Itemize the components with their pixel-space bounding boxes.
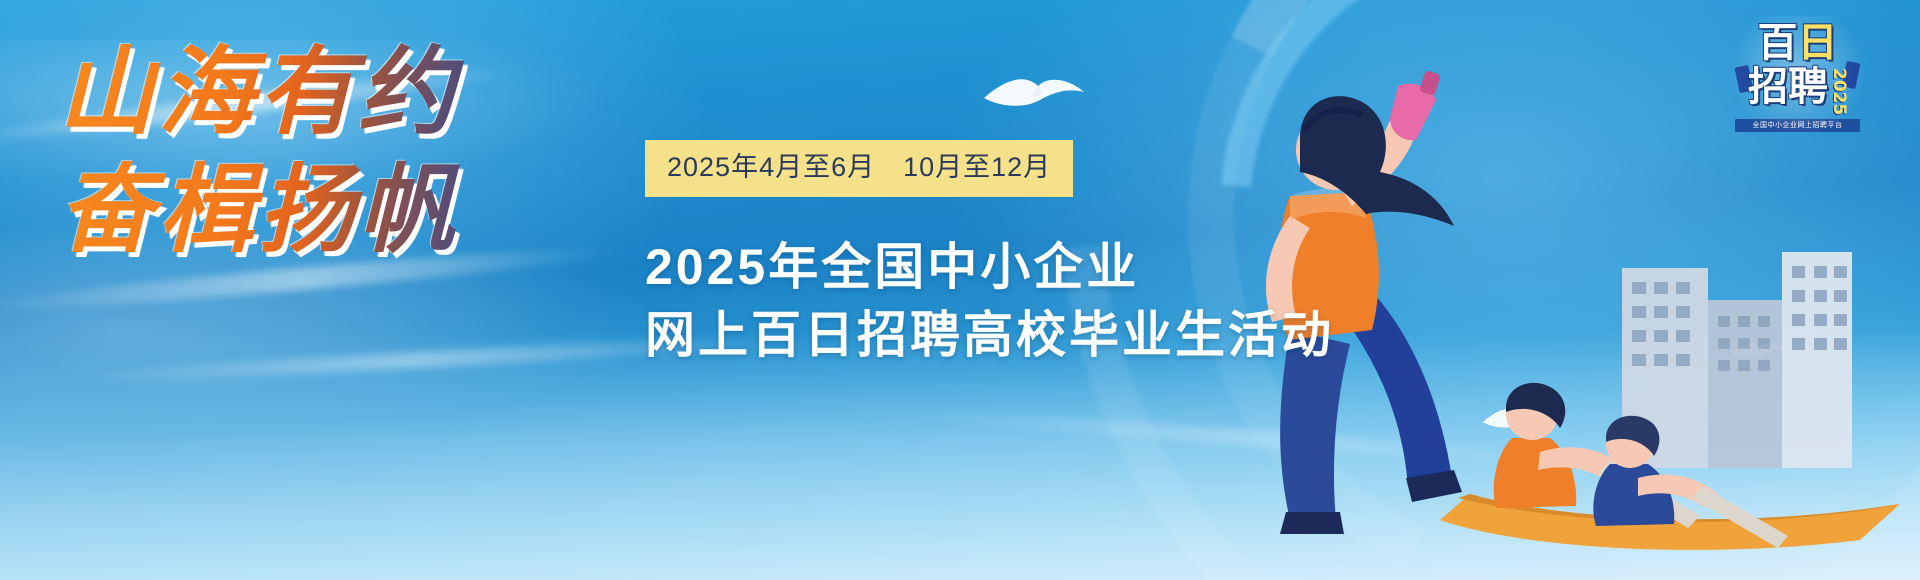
logo-char-zhao: 招 [1748,66,1788,108]
logo-year: 2025 [1830,68,1847,115]
logo-char-pin: 聘 [1788,66,1828,108]
logo-row-bottom: 招 聘 2025 [1735,66,1860,115]
logo-char-ri: 日 [1798,22,1838,64]
date-badge: 2025年4月至6月 10月至12月 [645,140,1073,197]
logo-row-top: 百 日 [1735,22,1860,64]
headline-line-1: 2025年全国中小企业 [645,233,1334,301]
logo-char-bai: 百 [1758,22,1798,64]
slogan-line-2: 奋楫扬帆 [58,156,528,264]
slogan-line-1: 山海有约 [58,38,528,146]
campaign-logo: 百 日 招 聘 2025 全国中小企业网上招聘平台 [1735,22,1860,130]
center-content: 2025年4月至6月 10月至12月 2025年全国中小企业 网上百日招聘高校毕… [645,140,1334,369]
recruitment-banner: 山海有约 奋楫扬帆 2025年4月至6月 10月至12月 2025年全国中小企业… [0,0,1920,580]
headline-line-2: 网上百日招聘高校毕业生活动 [645,301,1334,369]
headline-block: 2025年全国中小企业 网上百日招聘高校毕业生活动 [645,233,1334,369]
seagull-icon-1 [980,70,1090,120]
seagull-icon-3 [1728,338,1790,366]
slogan-block: 山海有约 奋楫扬帆 [58,38,528,264]
footer: 主办单位 工业和信息化部、教育部 承办单位 中国中小企业发展促进中心、中国中小企… [0,380,1920,580]
